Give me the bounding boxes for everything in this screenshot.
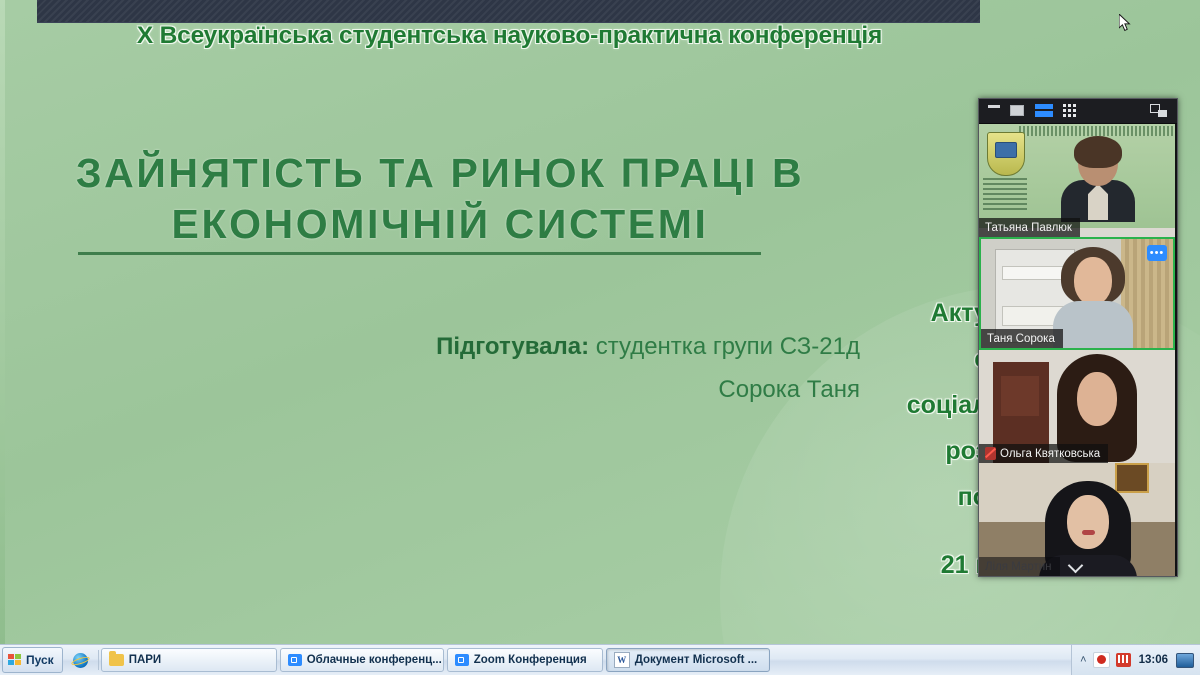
windows-logo-icon [8,654,22,667]
taskbar-item-cloud-conferences[interactable]: Облачные конференц... [280,648,444,672]
taskbar-item-zoom-conference[interactable]: Zoom Конференция [447,648,603,672]
start-button-label: Пуск [26,653,54,667]
system-tray[interactable]: ˄ 13:06 [1071,645,1200,675]
right-text-gap [760,520,988,542]
title-divider [78,252,761,255]
participant-tile[interactable]: Ліля Мартин [979,463,1175,576]
participant-name: Ліля Мартин [979,557,1060,576]
participant-name: Ольга Квятковська [1000,448,1100,460]
title-line-2: ЕКОНОМІЧНІЙ СИСТЕМІ [60,199,820,250]
chevron-down-icon[interactable] [1069,558,1083,572]
right-text-line-4: роз [760,428,988,474]
right-text-line-1: Акту [760,290,988,336]
taskbar-item-pari[interactable]: ПАРИ [101,648,277,672]
page-title: ЗАЙНЯТІСТЬ ТА РИНОК ПРАЦІ В ЕКОНОМІЧНІЙ … [60,148,820,250]
occluded-right-text: Акту є соціал роз по 21 к [760,290,988,588]
mouse-pointer [1119,14,1131,32]
show-hidden-icons-chevron[interactable]: ˄ [1080,654,1086,666]
tile-more-options-button[interactable]: ••• [1147,245,1167,261]
popout-window-icon[interactable] [1150,104,1167,117]
start-button[interactable]: Пуск [2,647,63,673]
participant-video [1055,247,1131,350]
windows-taskbar[interactable]: Пуск ПАРИ Облачные конференц... Zoom Кон… [0,644,1200,675]
university-crest-icon [987,132,1025,176]
title-line-1: ЗАЙНЯТІСТЬ ТА РИНОК ПРАЦІ В [60,148,820,199]
tile-banner [1019,126,1173,136]
crest-caption [983,178,1027,212]
internet-explorer-icon[interactable] [73,653,88,668]
taskbar-item-label: Облачные конференц... [307,654,442,666]
minimize-icon[interactable] [988,105,1000,108]
right-text-line-5: по [760,474,988,520]
participant-tiles: Татьяна Павлюк ••• Таня Сорока Ольга Квя… [979,124,1177,576]
right-text-line-3: соціал [760,382,988,428]
conference-heading: X Всеукраїнська студентська науково-прак… [37,22,982,50]
participant-name: Таня Сорока [981,329,1063,348]
microphone-muted-icon [985,447,996,460]
participant-tile[interactable]: Ольга Квятковська [979,350,1175,463]
security-flag-icon[interactable] [1093,652,1110,668]
taskbar-divider [98,650,99,670]
participant-name-row: Ольга Квятковська [979,444,1108,463]
folder-icon [109,654,124,666]
participant-name: Татьяна Павлюк [979,218,1080,237]
speaker-view-icon[interactable] [1035,104,1053,117]
right-text-line-6: 21 к [760,542,988,588]
taskbar-item-label: ПАРИ [129,654,162,666]
right-text-line-2: є [760,336,988,382]
window-mode-icon[interactable] [1010,105,1024,116]
network-alert-icon[interactable] [1116,653,1131,667]
clock[interactable]: 13:06 [1137,654,1170,666]
taskbar-item-label: Zoom Конференция [474,654,587,666]
zoom-window-toolbar[interactable] [979,99,1177,124]
zoom-icon [455,654,469,666]
quick-launch-bar[interactable] [73,653,88,668]
zoom-participants-window[interactable]: Татьяна Павлюк ••• Таня Сорока Ольга Квя… [978,98,1178,577]
author-label: Підготувала: [436,333,589,360]
gallery-view-icon[interactable] [1063,104,1078,117]
slide-top-band [37,0,980,23]
display-icon[interactable] [1176,653,1194,668]
zoom-icon [288,654,302,666]
slide-left-edge [0,0,5,645]
taskbar-item-word-document[interactable]: W Документ Microsoft ... [606,648,770,672]
participant-video [1061,140,1135,218]
taskbar-item-label: Документ Microsoft ... [635,654,758,666]
participant-tile[interactable]: Татьяна Павлюк [979,124,1175,237]
word-icon: W [614,652,630,668]
participant-tile-active[interactable]: ••• Таня Сорока [979,237,1175,350]
